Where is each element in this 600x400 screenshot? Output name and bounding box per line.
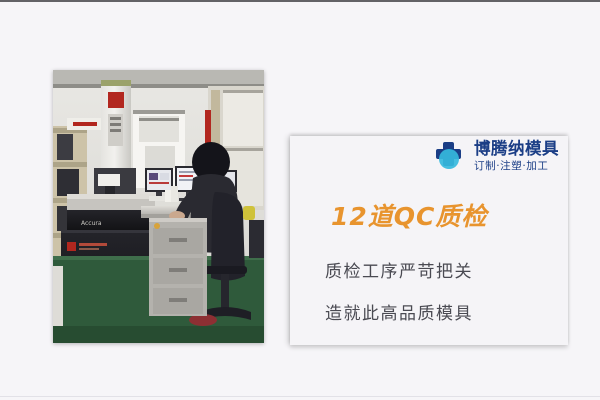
svg-text:Accura: Accura: [81, 220, 102, 227]
body-copy: 质检工序严苛把关 造就此高品质模具: [325, 257, 473, 324]
botengna-cross-logo-icon-svg: [434, 139, 468, 173]
brand-logo: 博腾纳模具 订制·注塑·加工: [434, 139, 559, 173]
brand-company-name: 博腾纳模具: [474, 141, 559, 158]
bottom-divider-rule: [0, 396, 600, 397]
qc-lab-photo-illustration: Accura: [53, 70, 264, 343]
brand-tagline: 订制·注塑·加工: [474, 161, 559, 172]
headline: 12道QC质检: [331, 197, 487, 233]
body-line-2: 造就此高品质模具: [325, 299, 473, 324]
slide-root: Accura: [0, 0, 600, 400]
qc-lab-photo: Accura: [53, 70, 264, 343]
top-divider-rule: [0, 0, 600, 2]
botengna-cross-logo-icon: [434, 139, 468, 173]
text-card: 博腾纳模具 订制·注塑·加工 12道QC质检 质检工序严苛把关 造就此高品质模具: [290, 136, 568, 345]
body-line-1: 质检工序严苛把关: [325, 257, 473, 282]
brand-logo-text: 博腾纳模具 订制·注塑·加工: [474, 141, 559, 171]
